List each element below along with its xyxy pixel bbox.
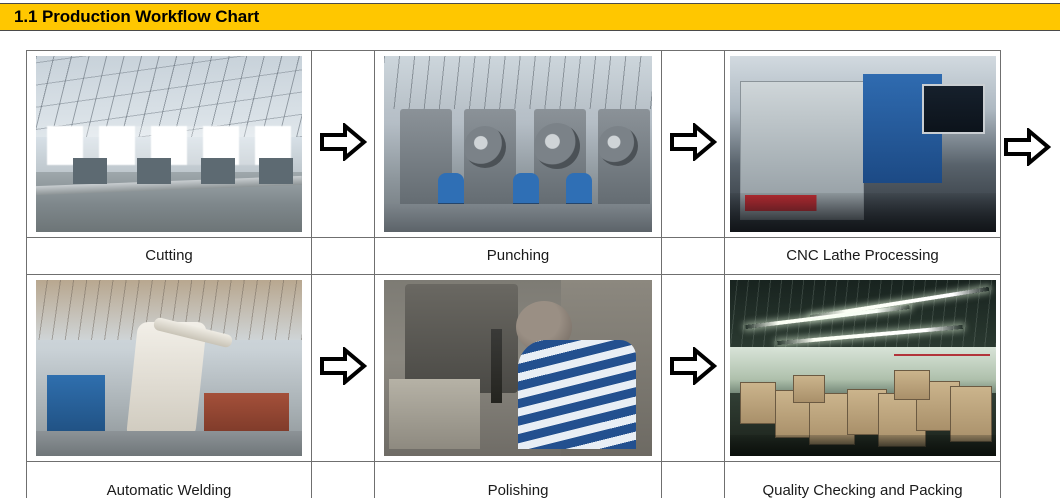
- shop-floor: [36, 431, 302, 456]
- floor-shadow: [730, 193, 996, 232]
- section-header-bar: 1.1 Production Workflow Chart: [0, 3, 1060, 31]
- workflow-arrow-cell-3: [312, 275, 375, 462]
- machine-unit: [137, 158, 171, 184]
- warehouse-ceiling: [730, 280, 996, 350]
- wall-red-stripe: [894, 354, 990, 356]
- roof-structure: [384, 56, 652, 109]
- page-title: 1.1 Production Workflow Chart: [0, 7, 259, 27]
- workflow-arrow-trailing: [1003, 128, 1060, 166]
- cnc-lathe-photo: [730, 56, 996, 232]
- workflow-step-photo-cell-cutting: [27, 51, 312, 238]
- right-block-arrow-icon: [1003, 128, 1051, 166]
- carton-box: [740, 382, 776, 424]
- work-table: [389, 379, 480, 449]
- welding-robot-photo: [36, 280, 302, 456]
- carton-box: [793, 375, 825, 403]
- workflow-arrow-cell-1: [312, 51, 375, 238]
- shop-floor: [384, 204, 652, 232]
- carton-box: [894, 370, 930, 400]
- red-work-bench: [204, 393, 289, 435]
- workflow-arrow-cell-4: [662, 275, 725, 462]
- roof-structure: [36, 56, 302, 137]
- workflow-step-photo-cell-punching: [375, 51, 662, 238]
- machine-unit: [259, 158, 293, 184]
- control-monitor: [922, 84, 985, 134]
- drill-spindle: [491, 329, 502, 403]
- table-row: [27, 51, 1001, 238]
- machine-unit: [73, 158, 107, 184]
- polishing-worker-photo: [384, 280, 652, 456]
- workflow-arrow-cell-2: [662, 51, 725, 238]
- workflow-label-spacer: [662, 462, 725, 498]
- right-block-arrow-icon: [319, 347, 367, 385]
- right-block-arrow-icon: [319, 123, 367, 161]
- workflow-step-photo-cell-welding: [27, 275, 312, 462]
- carton-box: [950, 386, 992, 442]
- table-row: [27, 275, 1001, 462]
- workflow-step-label-automatic-welding: Automatic Welding: [27, 462, 312, 498]
- cutting-workshop-photo: [36, 56, 302, 232]
- warehouse-floor: [730, 435, 996, 456]
- workflow-step-label-punching: Punching: [375, 238, 662, 275]
- flywheel: [534, 123, 580, 169]
- workflow-label-spacer: [662, 238, 725, 275]
- workflow-table: Cutting Punching CNC Lathe Processing: [26, 50, 1001, 498]
- workflow-step-label-cutting: Cutting: [27, 238, 312, 275]
- striped-shirt-worker: [518, 340, 636, 449]
- table-row: Automatic Welding Polishing Quality Chec…: [27, 462, 1001, 498]
- table-row: Cutting Punching CNC Lathe Processing: [27, 238, 1001, 275]
- workflow-step-photo-cell-cnc: [725, 51, 1001, 238]
- workflow-step-label-quality-checking-and-packing: Quality Checking and Packing: [725, 462, 1001, 498]
- production-workflow-page: 1.1 Production Workflow Chart: [0, 0, 1060, 498]
- machine-unit: [201, 158, 235, 184]
- blue-control-cabinet: [47, 375, 106, 438]
- workflow-step-label-polishing: Polishing: [375, 462, 662, 498]
- workflow-step-photo-cell-packing: [725, 275, 1001, 462]
- workflow-label-spacer: [312, 238, 375, 275]
- right-block-arrow-icon: [669, 123, 717, 161]
- workflow-label-spacer: [312, 462, 375, 498]
- right-block-arrow-icon: [669, 347, 717, 385]
- workflow-step-label-cnc-lathe-processing: CNC Lathe Processing: [725, 238, 1001, 275]
- punching-press-photo: [384, 56, 652, 232]
- warehouse-packing-photo: [730, 280, 996, 456]
- workflow-step-photo-cell-polishing: [375, 275, 662, 462]
